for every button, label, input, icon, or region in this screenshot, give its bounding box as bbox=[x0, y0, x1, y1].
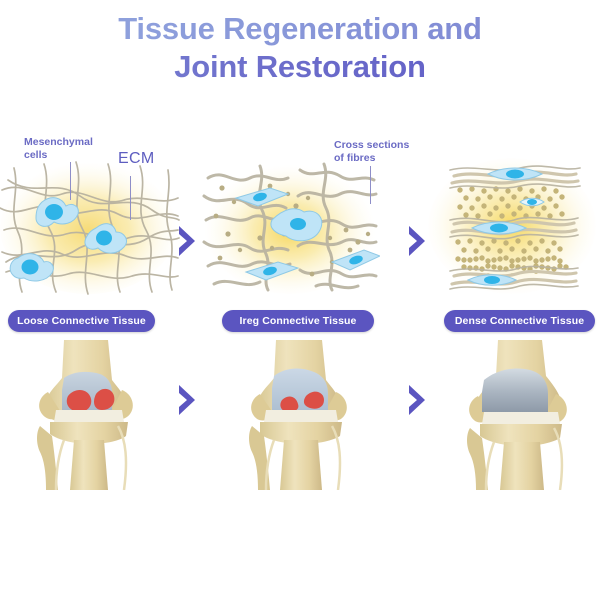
leader-line-cross-sections bbox=[370, 166, 371, 204]
knee-joint-restored bbox=[444, 340, 594, 490]
leader-line-mesenchymal bbox=[70, 162, 71, 200]
stage-badge-loose[interactable]: Loose Connective Tissue bbox=[8, 310, 155, 332]
leader-line-ecm bbox=[130, 176, 131, 220]
annotation-mesenchymal-cells: Mesenchymal cells bbox=[24, 136, 93, 161]
knee-joint-damaged bbox=[12, 340, 162, 490]
stage-badge-dense[interactable]: Dense Connective Tissue bbox=[444, 310, 595, 332]
dense-connective-tissue-diagram bbox=[420, 150, 600, 300]
loose-connective-tissue-diagram bbox=[0, 150, 180, 300]
page-title: Tissue Regeneration and Joint Restoratio… bbox=[0, 10, 600, 86]
knee-joint-healing bbox=[224, 340, 374, 490]
annotation-ecm: ECM bbox=[118, 153, 154, 166]
title-line-2: Joint Restoration bbox=[0, 48, 600, 86]
irregular-connective-tissue-diagram bbox=[200, 150, 380, 300]
annotation-cross-sections: Cross sections of fibres bbox=[334, 139, 409, 164]
chevron-right-icon bbox=[176, 383, 198, 417]
title-line-1: Tissue Regeneration and bbox=[0, 10, 600, 48]
infographic-canvas: Tissue Regeneration and Joint Restoratio… bbox=[0, 0, 600, 600]
chevron-right-icon bbox=[406, 383, 428, 417]
chevron-right-icon bbox=[176, 224, 198, 258]
stage-badge-irregular[interactable]: Ireg Connective Tissue bbox=[222, 310, 374, 332]
